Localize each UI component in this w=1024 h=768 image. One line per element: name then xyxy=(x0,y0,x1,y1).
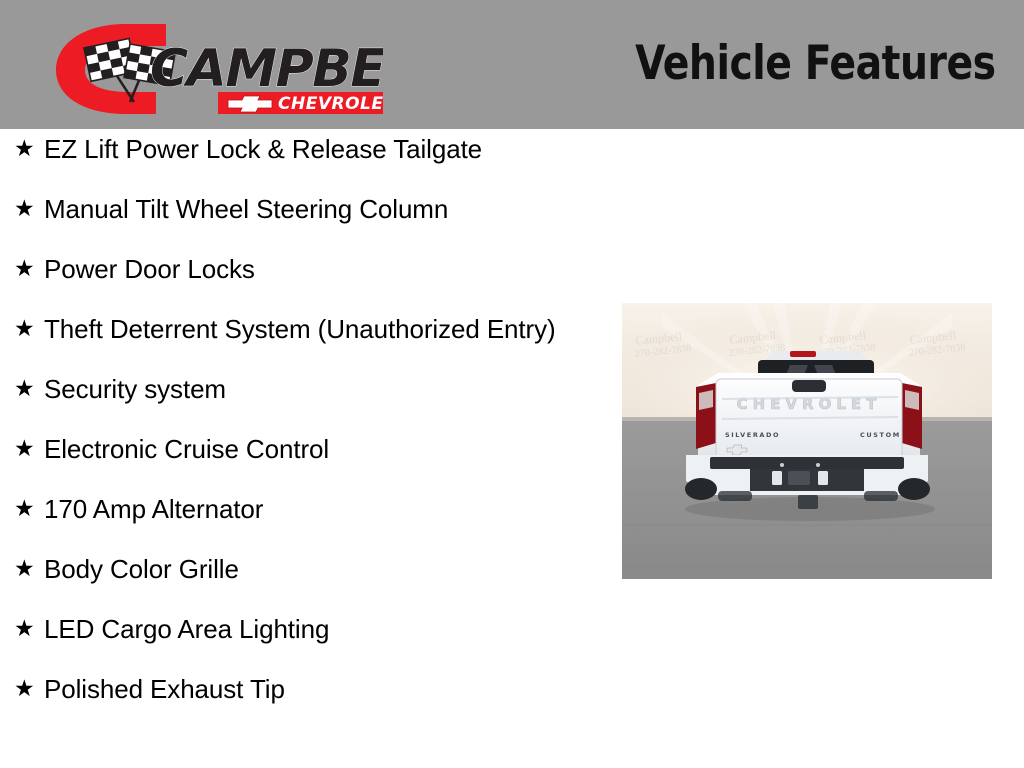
list-item: ★ Body Color Grille xyxy=(0,549,600,609)
list-item: ★ LED Cargo Area Lighting xyxy=(0,609,600,669)
exhaust-tip-left xyxy=(685,478,717,500)
star-bullet-icon: ★ xyxy=(14,429,44,470)
star-bullet-icon: ★ xyxy=(14,549,44,590)
truck-rear: CHEVROLET SILVERADO CUSTOM xyxy=(685,351,930,509)
list-item: ★ Polished Exhaust Tip xyxy=(0,669,600,729)
tailgate-handle xyxy=(792,380,826,392)
logo-brand-name: CHEVROLET xyxy=(278,94,383,114)
star-bullet-icon: ★ xyxy=(14,129,44,170)
third-brake-light xyxy=(790,351,816,357)
star-bullet-icon: ★ xyxy=(14,249,44,290)
list-item: ★ Electronic Cruise Control xyxy=(0,429,600,489)
feature-label: Body Color Grille xyxy=(44,549,600,590)
exhaust-tip-right xyxy=(898,478,930,500)
feature-label: LED Cargo Area Lighting xyxy=(44,609,600,650)
page-title: Vehicle Features xyxy=(636,36,996,91)
bumper-step-pad xyxy=(710,457,904,469)
star-bullet-icon: ★ xyxy=(14,669,44,710)
feature-label: 170 Amp Alternator xyxy=(44,489,600,530)
dealer-logo: CAMPBELL CHEVROLET xyxy=(38,14,383,118)
page-header: CAMPBELL CHEVROLET Vehicle Features xyxy=(0,0,1024,129)
vehicle-photo: Campbell 270-282-7838 Campbell 270-282-7… xyxy=(622,303,992,579)
list-item: ★ EZ Lift Power Lock & Release Tailgate xyxy=(0,129,600,189)
feature-label: Power Door Locks xyxy=(44,249,600,290)
model-badge: SILVERADO xyxy=(725,431,780,439)
list-item: ★ 170 Amp Alternator xyxy=(0,489,600,549)
feature-label: EZ Lift Power Lock & Release Tailgate xyxy=(44,129,600,170)
chevrolet-badge: CHEVROLET xyxy=(218,92,383,114)
feature-label: Manual Tilt Wheel Steering Column xyxy=(44,189,600,230)
list-item: ★ Theft Deterrent System (Unauthorized E… xyxy=(0,309,600,369)
feature-label: Electronic Cruise Control xyxy=(44,429,600,470)
list-item: ★ Manual Tilt Wheel Steering Column xyxy=(0,189,600,249)
logo-dealer-name: CAMPBELL xyxy=(150,39,383,99)
star-bullet-icon: ★ xyxy=(14,609,44,650)
vehicle-features-list: ★ EZ Lift Power Lock & Release Tailgate … xyxy=(0,129,600,729)
hitch-receiver xyxy=(798,495,818,509)
feature-label: Security system xyxy=(44,369,600,410)
trim-badge: CUSTOM xyxy=(860,431,901,439)
star-bullet-icon: ★ xyxy=(14,489,44,530)
feature-label: Polished Exhaust Tip xyxy=(44,669,600,710)
list-item: ★ Security system xyxy=(0,369,600,429)
list-item: ★ Power Door Locks xyxy=(0,249,600,309)
star-bullet-icon: ★ xyxy=(14,189,44,230)
star-bullet-icon: ★ xyxy=(14,369,44,410)
star-bullet-icon: ★ xyxy=(14,309,44,350)
feature-label: Theft Deterrent System (Unauthorized Ent… xyxy=(44,309,600,350)
